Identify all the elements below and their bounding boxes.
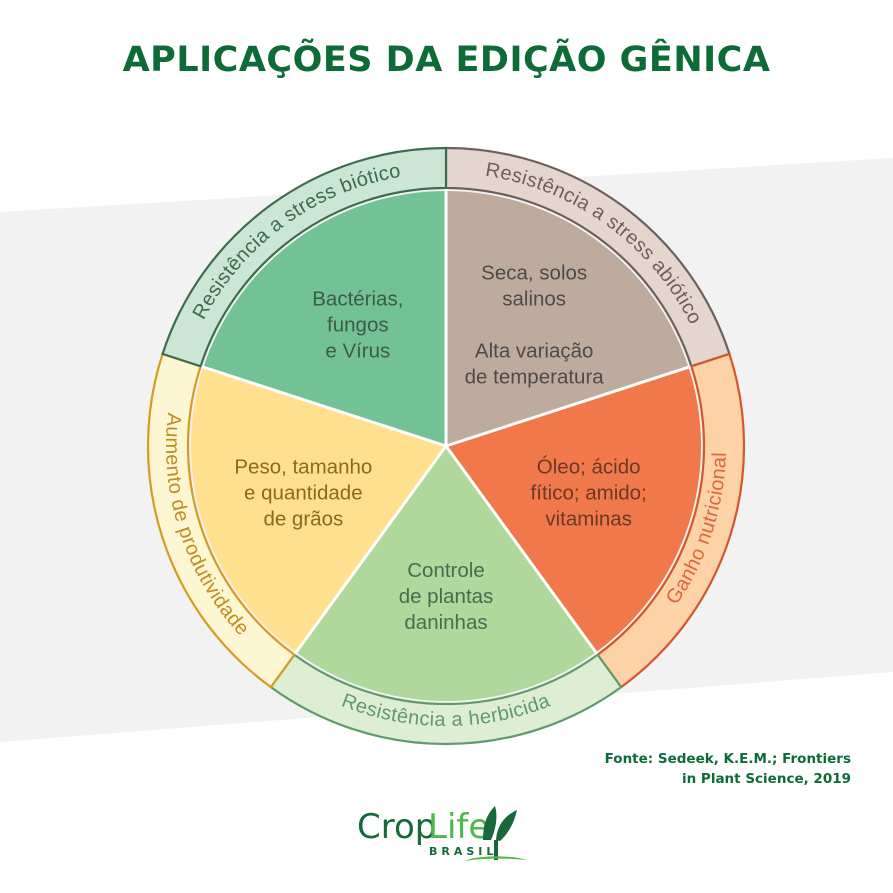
logo-word-life: Life bbox=[428, 807, 489, 847]
source-line-1: Fonte: Sedeek, K.E.M.; Frontiers bbox=[551, 750, 851, 770]
croplife-brasil-logo[interactable]: Crop Life BRASIL bbox=[355, 798, 545, 870]
segment-inner-label: Controlede plantasdaninhas bbox=[399, 559, 494, 634]
logo-word-crop: Crop bbox=[357, 807, 436, 847]
infographic-page: APLICAÇÕES DA EDIÇÃO GÊNICA Resistência … bbox=[0, 0, 893, 893]
source-line-2: in Plant Science, 2019 bbox=[551, 770, 851, 790]
logo-subtitle: BRASIL bbox=[429, 845, 497, 858]
segment-inner-label: Óleo; ácidofítico; amido;vitaminas bbox=[531, 455, 647, 530]
source-note: Fonte: Sedeek, K.E.M.; Frontiers in Plan… bbox=[551, 750, 851, 789]
